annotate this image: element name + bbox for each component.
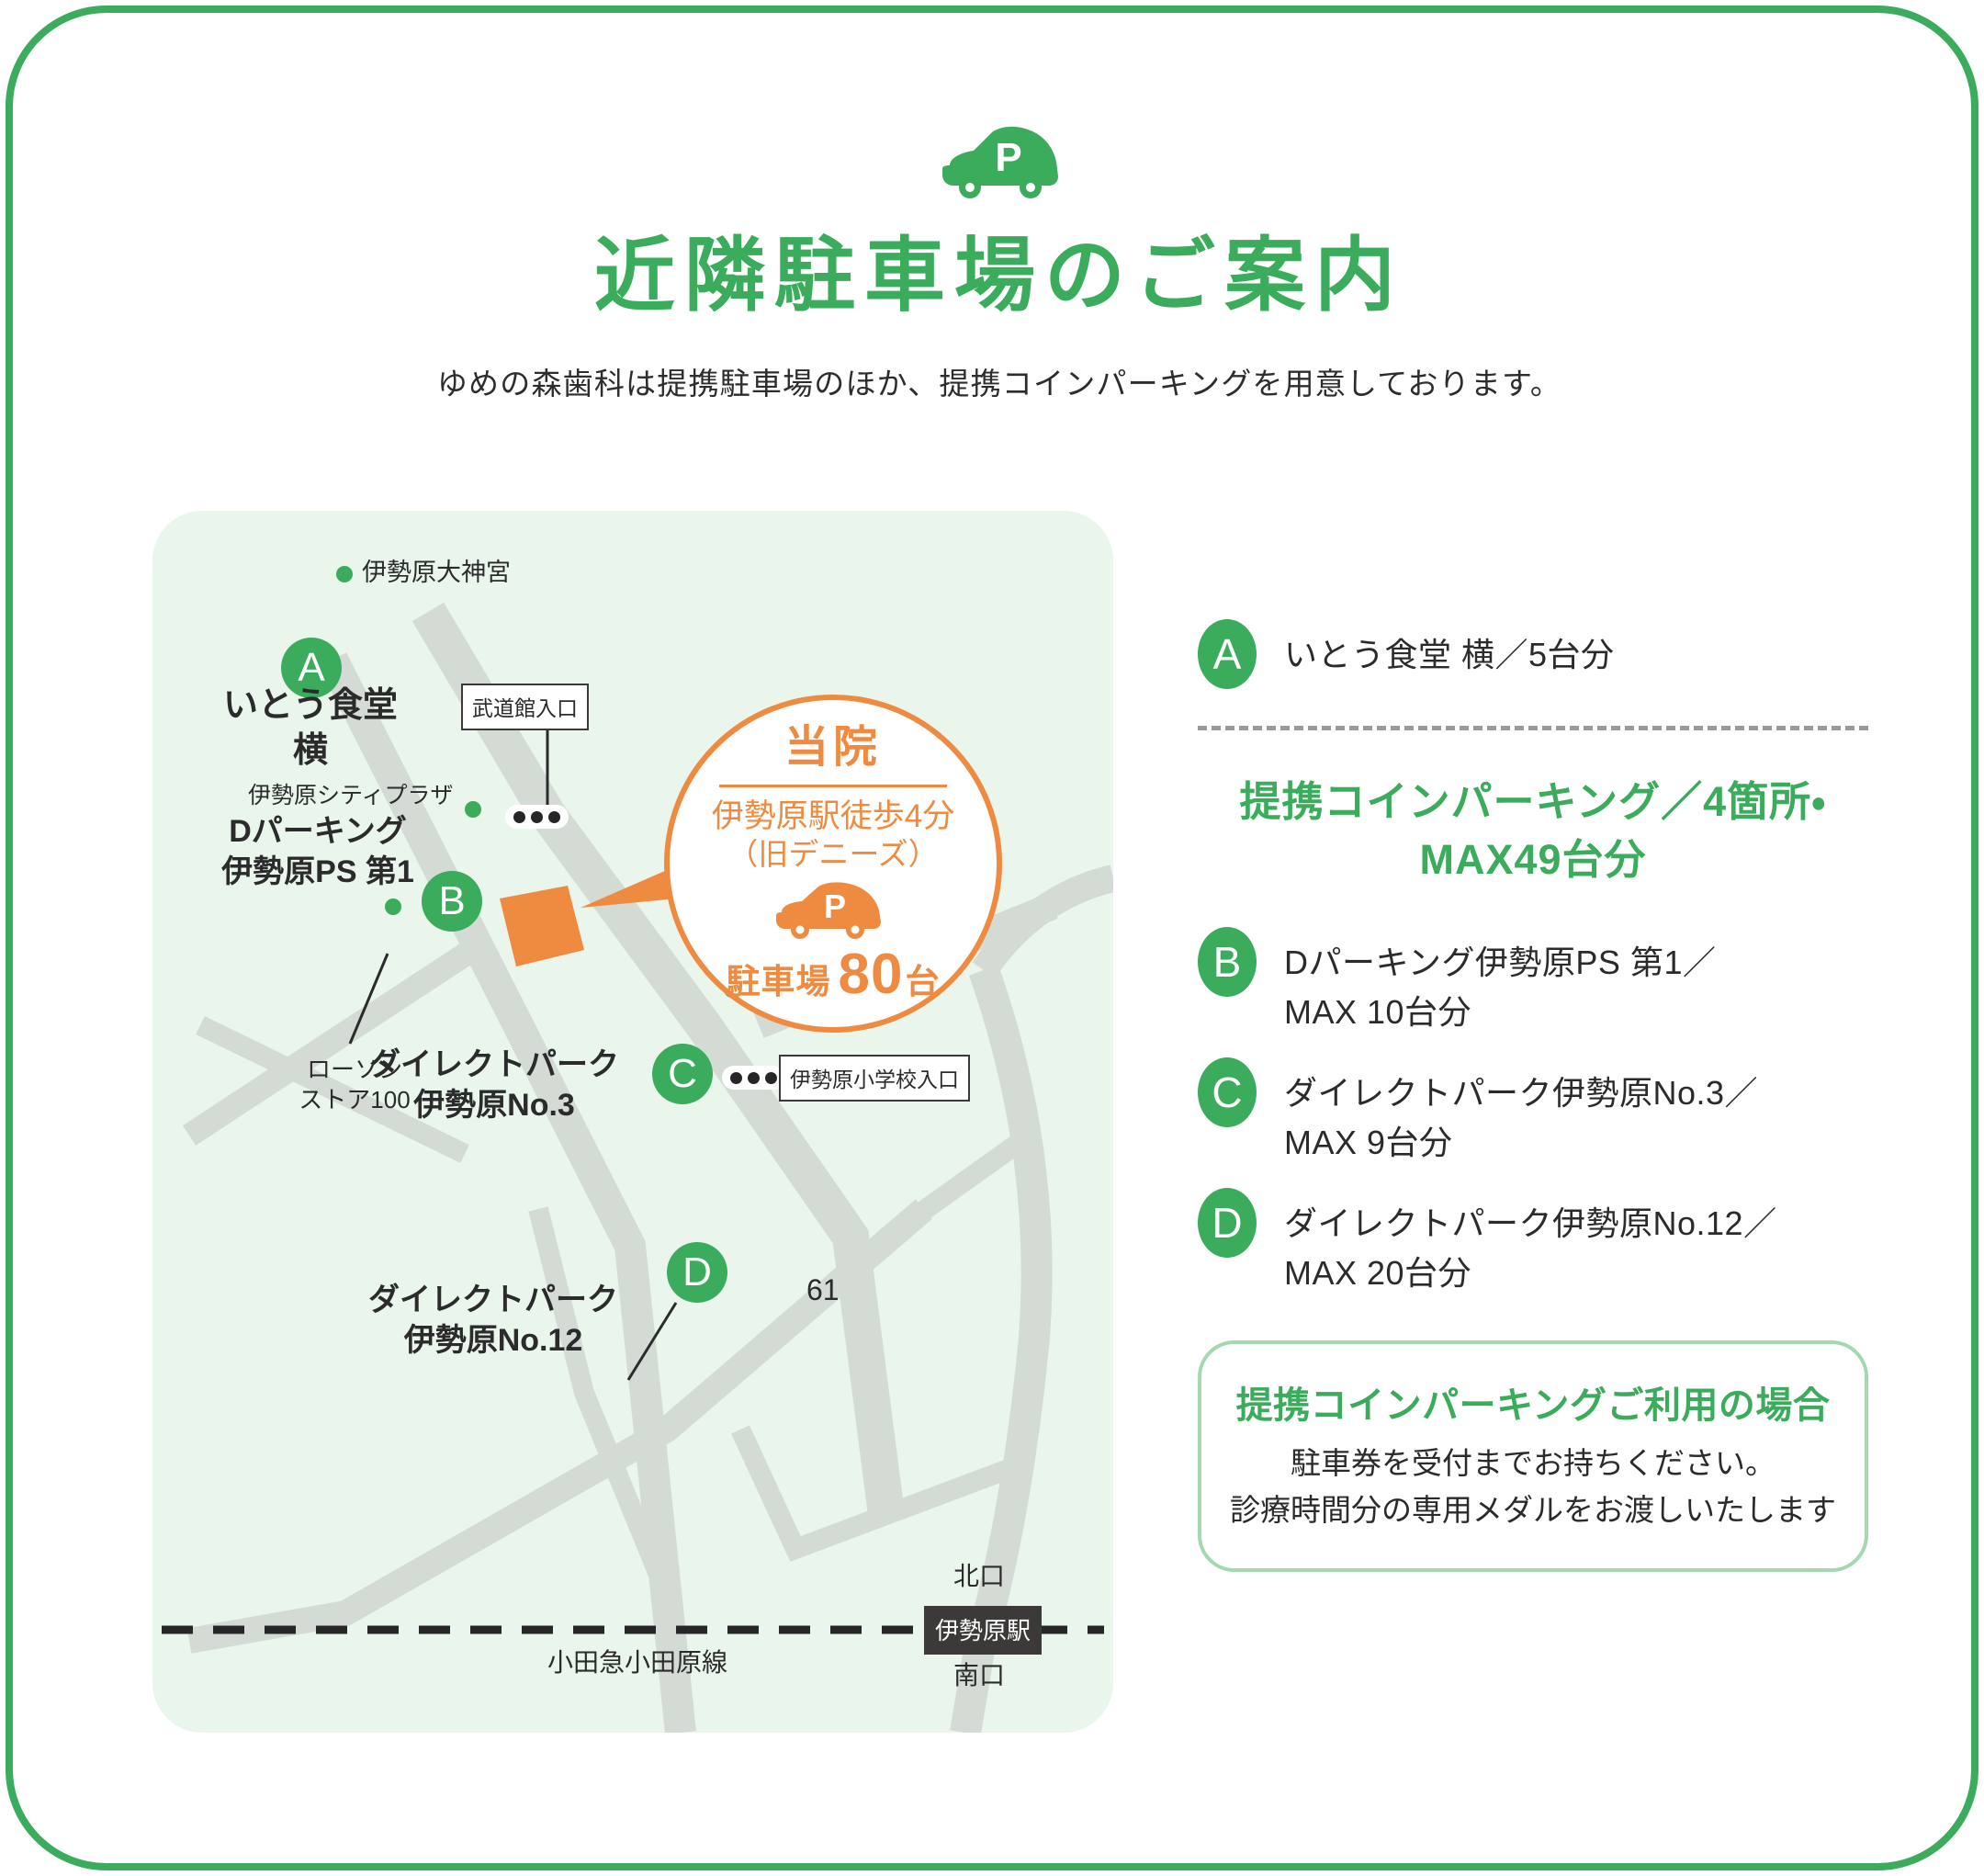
legend-badge-a: A: [1198, 619, 1257, 689]
capacity-word: 駐車場: [727, 954, 831, 1003]
notice-body: 駐車券を受付までお持ちください。 診療時間分の専用メダルをお渡しいたします: [1220, 1440, 1846, 1533]
legend-badge-c: C: [1198, 1057, 1257, 1127]
traffic-signal-shogakko: [722, 1066, 785, 1090]
map-marker-d[interactable]: D: [667, 1242, 727, 1303]
map-pin-lawson: [385, 898, 401, 915]
clinic-bubble[interactable]: 当院 伊勢原駅徒歩4分 （旧デニーズ） P 駐車場 80 台: [664, 695, 1002, 1033]
page-frame: P 近隣駐車場のご案内 ゆめの森歯科は提携駐車場のほか、提携コインパーキングを用…: [6, 6, 1978, 1870]
legend-divider: [1198, 726, 1868, 730]
clinic-bubble-walk-time: 伊勢原駅徒歩4分: [712, 797, 954, 837]
traffic-signal-budokan: [505, 805, 569, 829]
legend-text-b: Dパーキング伊勢原PS 第1／ MAX 10台分: [1284, 927, 1716, 1037]
legend-badge-d: D: [1198, 1188, 1257, 1258]
legend-item-b[interactable]: B Dパーキング伊勢原PS 第1／ MAX 10台分: [1198, 927, 1868, 1037]
page-subtitle: ゆめの森歯科は提携駐車場のほか、提携コインパーキングを用意しております。: [13, 359, 1984, 403]
legend-text-d: ダイレクトパーク伊勢原No.12／ MAX 20台分: [1284, 1188, 1777, 1298]
car-parking-icon: P: [771, 881, 896, 940]
legend-text-c: ダイレクトパーク伊勢原No.3／ MAX 9台分: [1284, 1057, 1758, 1168]
notice-box: 提携コインパーキングご利用の場合 駐車券を受付までお持ちください。 診療時間分の…: [1198, 1340, 1868, 1572]
clinic-bubble-divider: [719, 785, 947, 787]
map-pin-jingu: [336, 566, 353, 582]
map-card[interactable]: A B C D 武道館入口 伊勢原小学校入口 伊勢原大神宮 いとう食堂 横 伊勢…: [152, 511, 1113, 1733]
svg-text:P: P: [995, 135, 1021, 180]
legend-item-c[interactable]: C ダイレクトパーク伊勢原No.3／ MAX 9台分: [1198, 1057, 1868, 1168]
page-header: P 近隣駐車場のご案内 ゆめの森歯科は提携駐車場のほか、提携コインパーキングを用…: [13, 13, 1984, 403]
legend-panel: A いとう食堂 横／5台分 提携コインパーキング／4箇所・ MAX49台分 B …: [1198, 619, 1868, 1572]
svg-text:P: P: [824, 887, 846, 925]
map-label-shogakko-iriguchi: 伊勢原小学校入口: [779, 1055, 970, 1102]
legend-badge-b: B: [1198, 927, 1257, 997]
capacity-number: 80: [839, 942, 904, 1007]
map-marker-c[interactable]: C: [652, 1044, 713, 1104]
clinic-bubble-title: 当院: [784, 724, 882, 773]
legend-item-d[interactable]: D ダイレクトパーク伊勢原No.12／ MAX 20台分: [1198, 1188, 1868, 1298]
legend-item-a[interactable]: A いとう食堂 横／5台分: [1198, 619, 1868, 689]
map-label-station[interactable]: 伊勢原駅: [924, 1606, 1042, 1655]
car-parking-icon: P: [935, 125, 1064, 200]
capacity-unit: 台: [905, 954, 940, 1003]
map-marker-b[interactable]: B: [422, 871, 482, 932]
map-pin-city-plaza: [465, 801, 481, 818]
map-marker-a[interactable]: A: [281, 638, 342, 698]
notice-title: 提携コインパーキングご利用の場合: [1220, 1375, 1846, 1429]
clinic-bubble-capacity: 駐車場 80 台: [727, 942, 941, 1007]
legend-text-a: いとう食堂 横／5台分: [1284, 619, 1615, 680]
page-title: 近隣駐車場のご案内: [13, 232, 1984, 321]
clinic-bubble-former-name: （旧デニーズ）: [727, 836, 938, 873]
coin-parking-heading: 提携コインパーキング／4箇所・ MAX49台分: [1198, 773, 1868, 888]
map-label-budokan-iriguchi: 武道館入口: [461, 684, 589, 730]
